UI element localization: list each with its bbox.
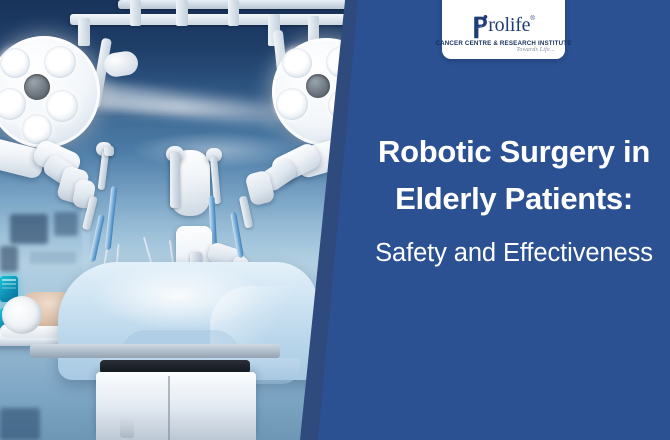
headline-subtitle: Safety and Effectiveness: [358, 236, 670, 270]
brand-subtitle: CANCER CENTRE & RESEARCH INSTITUTE: [435, 40, 571, 47]
headline-line-1: Robotic Surgery in: [358, 128, 670, 175]
led-pod: [46, 90, 78, 122]
table-base-seam: [168, 376, 170, 440]
stylized-p-mark-icon: [472, 15, 489, 39]
light-center-hub: [306, 74, 330, 98]
ceiling-mount-post: [130, 0, 141, 26]
brand-wordmark: rolife ®: [472, 15, 535, 39]
robotic-instrument-shaft: [105, 186, 118, 250]
led-pod: [276, 88, 308, 120]
ceiling-mount-post: [228, 0, 239, 26]
ceiling-mount-post: [78, 18, 90, 46]
background-cabinet: [0, 408, 40, 440]
background-cabinet: [10, 214, 48, 244]
led-pod: [282, 48, 312, 78]
operating-table-frame: [30, 344, 280, 358]
article-banner: rolife ® CANCER CENTRE & RESEARCH INSTIT…: [0, 0, 670, 440]
led-pod: [44, 46, 76, 78]
light-center-hub: [24, 74, 50, 100]
ceiling-mount-post: [176, 0, 188, 26]
registered-trademark-icon: ®: [530, 16, 534, 22]
headline-line-2: Elderly Patients:: [358, 175, 670, 222]
background-cabinet: [0, 246, 18, 272]
background-shelf: [30, 252, 76, 264]
background-cabinet: [54, 212, 78, 236]
robotic-instrument-head: [104, 146, 114, 156]
table-base-panel: [120, 418, 134, 438]
operating-room-photo: [0, 0, 360, 440]
robotic-instrument: [170, 152, 180, 208]
led-pod: [22, 114, 52, 144]
led-pod: [0, 88, 26, 120]
surgical-cap: [2, 296, 42, 334]
brand-name: rolife: [488, 15, 530, 35]
brand-logo-card[interactable]: rolife ® CANCER CENTRE & RESEARCH INSTIT…: [442, 0, 565, 59]
led-pod: [0, 48, 30, 78]
headline-block: Robotic Surgery in Elderly Patients: Saf…: [358, 128, 670, 270]
brand-tagline: Towards Life...: [516, 47, 555, 53]
